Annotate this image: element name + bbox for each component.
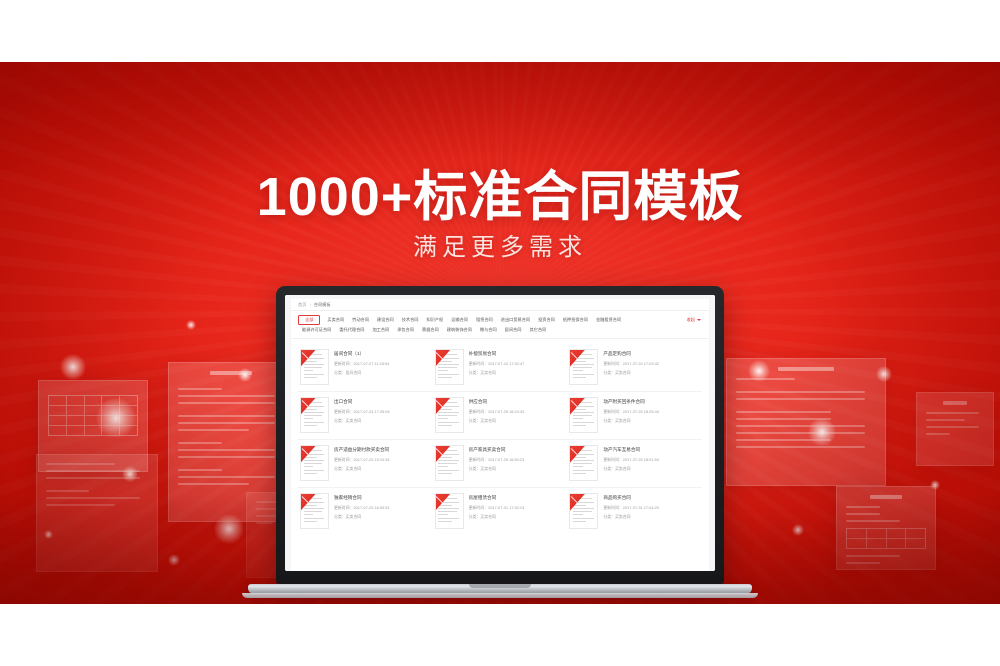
mock-table-icon xyxy=(846,528,926,549)
card-date: 更新时间：2017-07-25 18:25:44 xyxy=(603,410,698,414)
card-meta: 补偿贸易合同 更新时间：2017-07-24 17:32:47 分类：买卖合同 xyxy=(469,349,564,385)
template-card[interactable]: 独家经销合同 更新时间：2017-07-25 16:53:51 分类：买卖合同 xyxy=(298,488,433,535)
background-document-mockup xyxy=(916,392,994,466)
document-thumbnail xyxy=(569,349,598,385)
laptop-base-lip xyxy=(242,593,758,598)
card-meta: 动产汽车互易合同 更新时间：2017-07-25 18:01:54 分类：买卖合… xyxy=(603,445,698,481)
card-date: 更新时间：2017-07-24 17:32:47 xyxy=(469,362,564,366)
template-card[interactable]: 房屋租赁合同 更新时间：2017-07-31 17:32:13 分类：买卖合同 xyxy=(433,488,568,535)
card-meta: 商品购买合同 更新时间：2017-07-31 17:04:20 分类：买卖合同 xyxy=(603,493,698,529)
filter-tag[interactable]: 委托代理合同 xyxy=(335,325,368,334)
document-thumbnail xyxy=(569,445,598,481)
filter-tag[interactable]: 建设合同 xyxy=(373,316,398,325)
card-category: 分类：买卖合同 xyxy=(603,419,698,423)
card-title: 房产家具买卖合同 xyxy=(469,447,564,452)
laptop-lid: 首页 › 合同模板 全部 买卖合同 劳动合同 建设合同 技术 xyxy=(276,286,724,584)
document-thumbnail xyxy=(300,349,329,385)
template-card[interactable]: 居间合同（1） 更新时间：2017-07-07 11:25:54 分类：居间合同 xyxy=(298,344,433,392)
filter-row-1: 全部 买卖合同 劳动合同 建设合同 技术合同 知识产权 运输合同 租赁合同 进出… xyxy=(298,315,702,325)
filter-tag[interactable]: 居间合同 xyxy=(501,325,526,334)
card-title: 产品定购合同 xyxy=(603,351,698,356)
laptop-hinge-notch xyxy=(469,584,531,588)
chevron-up-icon xyxy=(697,319,701,321)
top-white-strip xyxy=(0,0,1000,62)
card-title: 房屋租赁合同 xyxy=(469,495,564,500)
card-category: 分类：买卖合同 xyxy=(469,371,564,375)
card-date: 更新时间：2017-07-31 17:04:20 xyxy=(603,506,698,510)
filter-tag[interactable]: 技术合同 xyxy=(398,316,423,325)
card-category: 分类：买卖合同 xyxy=(469,515,564,519)
filter-row-2: 能源许可证合同 委托代理合同 加工合同 承包合同 票据合同 建筑装饰合同 赠与合… xyxy=(298,325,702,334)
breadcrumb-current: 合同模板 xyxy=(314,303,331,307)
document-thumbnail xyxy=(435,493,464,529)
filter-tag[interactable]: 租赁合同 xyxy=(472,316,497,325)
card-category: 分类：买卖合同 xyxy=(603,515,698,519)
glow-particle xyxy=(60,354,86,380)
breadcrumb-home[interactable]: 首页 xyxy=(298,303,306,307)
filter-tag[interactable]: 赠与合同 xyxy=(476,325,501,334)
document-thumbnail xyxy=(435,349,464,385)
filter-tag[interactable]: 运输合同 xyxy=(447,316,472,325)
filter-bar: 全部 买卖合同 劳动合同 建设合同 技术合同 知识产权 运输合同 租赁合同 进出… xyxy=(291,311,709,339)
card-date: 更新时间：2017-07-25 16:53:51 xyxy=(334,506,429,510)
document-thumbnail xyxy=(435,397,464,433)
card-category: 分类：买卖合同 xyxy=(603,371,698,375)
document-thumbnail xyxy=(300,493,329,529)
filter-tag[interactable]: 其它合同 xyxy=(525,325,550,334)
card-date: 更新时间：2017-07-25 16:50:23 xyxy=(469,458,564,462)
card-category: 分类：买卖合同 xyxy=(334,467,429,471)
filter-tag[interactable]: 票据合同 xyxy=(418,325,443,334)
document-thumbnail xyxy=(569,397,598,433)
template-card[interactable]: 房产家具买卖合同 更新时间：2017-07-25 16:50:23 分类：买卖合… xyxy=(433,440,568,488)
document-thumbnail xyxy=(569,493,598,529)
glow-particle xyxy=(186,320,196,330)
mock-table-icon xyxy=(48,395,138,436)
template-card[interactable]: 动产附买回条件合同 更新时间：2017-07-25 18:25:44 分类：买卖… xyxy=(567,392,702,440)
card-title: 补偿贸易合同 xyxy=(469,351,564,356)
filter-tag[interactable]: 承包合同 xyxy=(393,325,418,334)
card-title: 供应合同 xyxy=(469,399,564,404)
card-title: 出口合同 xyxy=(334,399,429,404)
card-meta: 独家经销合同 更新时间：2017-07-25 16:53:51 分类：买卖合同 xyxy=(334,493,429,529)
card-date: 更新时间：2017-07-07 11:25:54 xyxy=(334,362,429,366)
card-category: 分类：买卖合同 xyxy=(334,419,429,423)
background-document-mockup xyxy=(36,454,158,572)
filter-tag[interactable]: 劳动合同 xyxy=(348,316,373,325)
card-category: 分类：买卖合同 xyxy=(469,467,564,471)
background-document-mockup xyxy=(836,486,936,570)
template-card[interactable]: 出口合同 更新时间：2017-07-24 17:25:04 分类：买卖合同 xyxy=(298,392,433,440)
card-date: 更新时间：2017-07-25 18:01:54 xyxy=(603,458,698,462)
card-date: 更新时间：2017-07-24 17:03:42 xyxy=(603,362,698,366)
card-date: 更新时间：2017-07-31 17:32:13 xyxy=(469,506,564,510)
card-category: 分类：买卖合同 xyxy=(603,467,698,471)
breadcrumb-separator-icon: › xyxy=(309,303,310,307)
laptop-mockup: 首页 › 合同模板 全部 买卖合同 劳动合同 建设合同 技术 xyxy=(248,286,752,598)
filter-tag-all[interactable]: 全部 xyxy=(298,315,320,325)
card-meta: 房产家具买卖合同 更新时间：2017-07-25 16:50:23 分类：买卖合… xyxy=(469,445,564,481)
card-date: 更新时间：2017-07-25 15:10:34 xyxy=(334,458,429,462)
collapse-label: 收起 xyxy=(687,317,695,323)
template-card[interactable]: 补偿贸易合同 更新时间：2017-07-24 17:32:47 分类：买卖合同 xyxy=(433,344,568,392)
template-card-grid: 居间合同（1） 更新时间：2017-07-07 11:25:54 分类：居间合同 xyxy=(291,339,709,540)
card-title: 房产适益分期付款买卖合同 xyxy=(334,447,429,452)
filter-tag[interactable]: 金融租赁合同 xyxy=(592,316,625,325)
card-title: 动产附买回条件合同 xyxy=(603,399,698,404)
card-meta: 居间合同（1） 更新时间：2017-07-07 11:25:54 分类：居间合同 xyxy=(334,349,429,385)
filter-tag[interactable]: 能源许可证合同 xyxy=(298,325,335,334)
card-meta: 房产适益分期付款买卖合同 更新时间：2017-07-25 15:10:34 分类… xyxy=(334,445,429,481)
red-banner-background: 1000+标准合同模板 满足更多需求 首页 › 合同模板 xyxy=(0,62,1000,604)
filter-tag[interactable]: 知识产权 xyxy=(422,316,447,325)
card-category: 分类：居间合同 xyxy=(334,371,429,375)
card-category: 分类：买卖合同 xyxy=(334,515,429,519)
document-thumbnail xyxy=(435,445,464,481)
bottom-white-strip xyxy=(0,604,1000,666)
glow-particle xyxy=(168,554,180,566)
filter-tag[interactable]: 买卖合同 xyxy=(323,316,348,325)
app-content: 首页 › 合同模板 全部 买卖合同 劳动合同 建设合同 技术 xyxy=(291,299,709,571)
card-meta: 出口合同 更新时间：2017-07-24 17:25:04 分类：买卖合同 xyxy=(334,397,429,433)
filter-tag[interactable]: 建筑装饰合同 xyxy=(443,325,476,334)
glow-particle xyxy=(792,524,804,536)
card-meta: 供应合同 更新时间：2017-07-25 16:24:43 分类：买卖合同 xyxy=(469,397,564,433)
filter-tag[interactable]: 投资合同 xyxy=(534,316,559,325)
card-title: 居间合同（1） xyxy=(334,351,429,356)
card-category: 分类：买卖合同 xyxy=(469,419,564,423)
collapse-filters-button[interactable]: 收起 xyxy=(687,317,701,323)
card-date: 更新时间：2017-07-25 16:24:43 xyxy=(469,410,564,414)
template-card[interactable]: 商品购买合同 更新时间：2017-07-31 17:04:20 分类：买卖合同 xyxy=(567,488,702,535)
breadcrumb: 首页 › 合同模板 xyxy=(291,299,709,311)
template-card[interactable]: 供应合同 更新时间：2017-07-25 16:24:43 分类：买卖合同 xyxy=(433,392,568,440)
document-thumbnail xyxy=(300,445,329,481)
template-card[interactable]: 动产汽车互易合同 更新时间：2017-07-25 18:01:54 分类：买卖合… xyxy=(567,440,702,488)
filter-tag[interactable]: 进出口贸易合同 xyxy=(497,316,534,325)
template-card[interactable]: 房产适益分期付款买卖合同 更新时间：2017-07-25 15:10:34 分类… xyxy=(298,440,433,488)
page-subtitle: 满足更多需求 xyxy=(0,236,1000,260)
page-title: 1000+标准合同模板 xyxy=(0,170,1000,224)
card-meta: 产品定购合同 更新时间：2017-07-24 17:03:42 分类：买卖合同 xyxy=(603,349,698,385)
card-meta: 动产附买回条件合同 更新时间：2017-07-25 18:25:44 分类：买卖… xyxy=(603,397,698,433)
card-title: 商品购买合同 xyxy=(603,495,698,500)
card-title: 动产汽车互易合同 xyxy=(603,447,698,452)
banner-top-shadow xyxy=(0,62,1000,182)
card-title: 独家经销合同 xyxy=(334,495,429,500)
card-date: 更新时间：2017-07-24 17:25:04 xyxy=(334,410,429,414)
card-meta: 房屋租赁合同 更新时间：2017-07-31 17:32:13 分类：买卖合同 xyxy=(469,493,564,529)
template-card[interactable]: 产品定购合同 更新时间：2017-07-24 17:03:42 分类：买卖合同 xyxy=(567,344,702,392)
laptop-screen: 首页 › 合同模板 全部 买卖合同 劳动合同 建设合同 技术 xyxy=(285,295,715,571)
banner-stage: 1000+标准合同模板 满足更多需求 首页 › 合同模板 xyxy=(0,0,1000,666)
document-thumbnail xyxy=(300,397,329,433)
app-window: 首页 › 合同模板 全部 买卖合同 劳动合同 建设合同 技术 xyxy=(285,295,715,571)
filter-tag[interactable]: 加工合同 xyxy=(368,325,393,334)
filter-tag[interactable]: 抵押担保合同 xyxy=(559,316,592,325)
